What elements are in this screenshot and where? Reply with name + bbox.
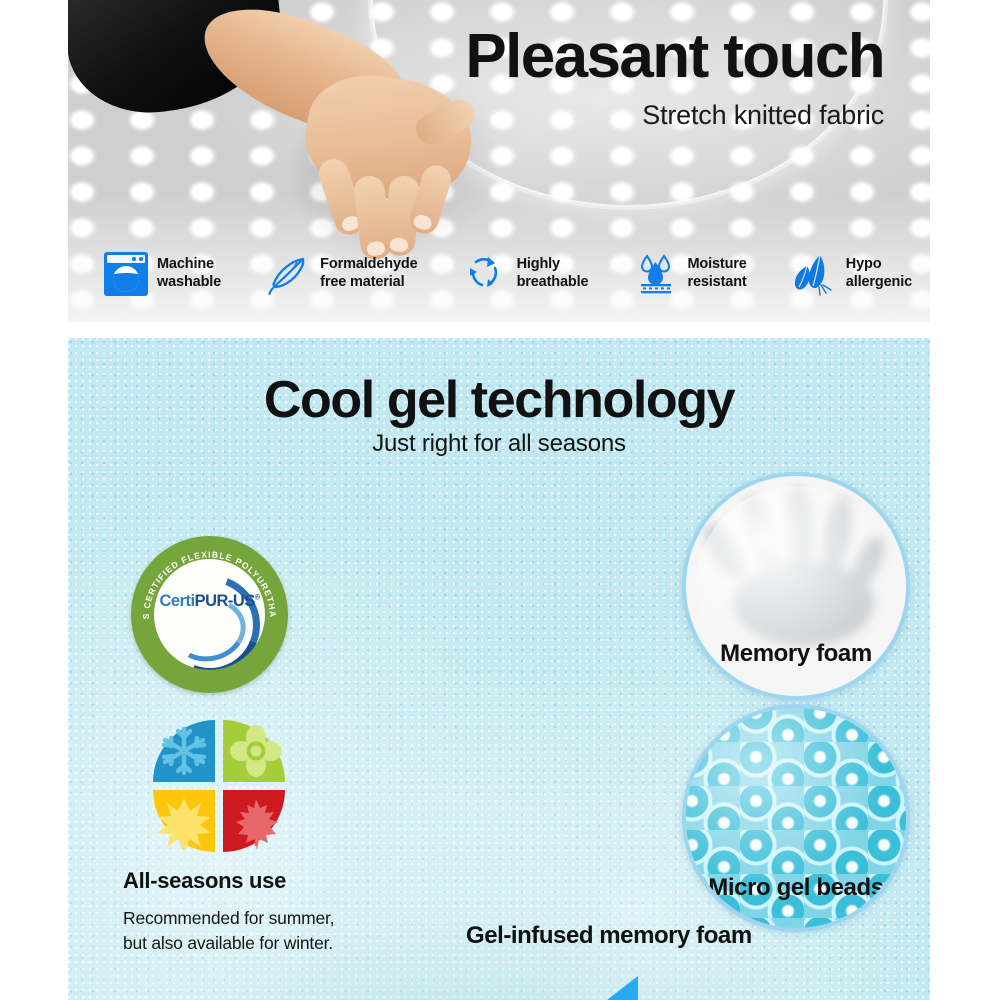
page-subtitle: Stretch knitted fabric <box>642 100 884 131</box>
micro-gel-beads-label: Micro gel beads <box>686 874 906 902</box>
memory-foam-circle: Memory foam <box>682 472 910 700</box>
snowflake-icon <box>157 724 211 778</box>
feature-formaldehyde-free: Formaldehyde free material <box>267 252 417 296</box>
feature-highly-breathable: Highly breathable <box>464 252 589 296</box>
section-subtitle: Just right for all seasons <box>68 430 930 458</box>
leaves-icon <box>793 252 837 296</box>
infused-arrow: infused <box>576 970 786 1000</box>
feature-label: Hypo allergenic <box>846 256 912 291</box>
feature-label: Highly breathable <box>517 256 589 291</box>
registered-mark: ® <box>255 595 260 602</box>
certipur-suffix: PUR-US <box>195 592 255 610</box>
all-seasons-wheel <box>153 720 285 852</box>
feature-strip: Machine washable Formaldehyde free mater… <box>68 243 930 305</box>
certipur-wordmark: CertiPUR-US® <box>154 592 265 611</box>
feature-hypo-allergenic: Hypo allergenic <box>793 252 912 296</box>
page-title: Pleasant touch <box>465 26 884 88</box>
micro-gel-beads-circle: Micro gel beads <box>682 704 910 932</box>
certipur-us-badge: CONTAINS CERTIFIED FLEXIBLE POLYURETHANE… <box>131 536 288 693</box>
feature-label: Machine washable <box>157 256 221 291</box>
maple-leaf-icon <box>229 796 283 850</box>
memory-foam-label: Memory foam <box>686 640 906 668</box>
all-seasons-description: Recommended for summer, but also availab… <box>123 906 453 957</box>
washing-machine-icon <box>104 252 148 296</box>
cool-gel-technology-panel: Cool gel technology Just right for all s… <box>68 338 930 1000</box>
pleasant-touch-panel: Pleasant touch Stretch knitted fabric Ma… <box>68 0 930 322</box>
all-seasons-label: All-seasons use <box>123 868 423 894</box>
breathable-cycle-icon <box>464 252 508 296</box>
flower-icon <box>229 724 283 778</box>
certipur-inner-disc: CertiPUR-US® <box>154 559 265 670</box>
gel-infused-memory-foam-label: Gel-infused memory foam <box>466 922 752 950</box>
section-title: Cool gel technology <box>68 370 930 430</box>
hand-on-mattress-photo <box>68 0 448 250</box>
feature-moisture-resistant: Moisture resistant <box>634 252 746 296</box>
feather-icon <box>267 252 311 296</box>
feature-label: Moisture resistant <box>687 256 746 291</box>
water-droplets-icon <box>634 252 678 296</box>
feature-label: Formaldehyde free material <box>320 256 417 291</box>
certipur-prefix: Certi <box>159 592 194 610</box>
sun-icon <box>157 796 211 850</box>
feature-machine-washable: Machine washable <box>104 252 221 296</box>
